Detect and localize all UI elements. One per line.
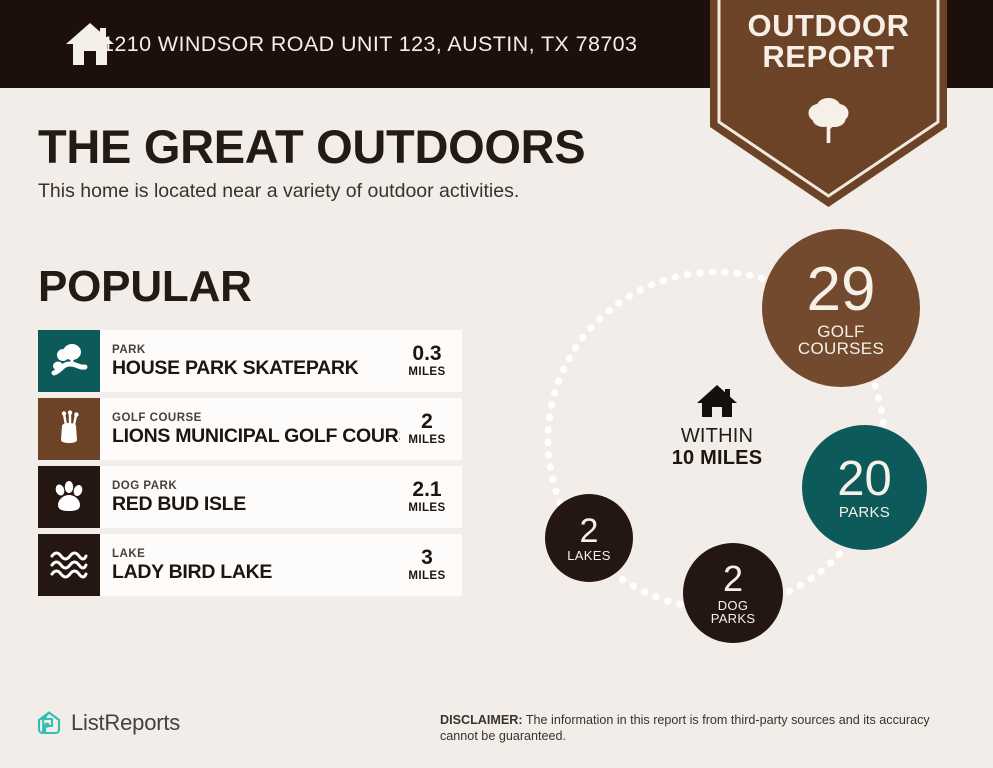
list-item-distance: 2.1 MILES <box>400 466 462 528</box>
list-item-text: DOG PARK RED BUD ISLE <box>100 466 400 528</box>
page-title: THE GREAT OUTDOORS <box>38 121 585 173</box>
badge-title: OUTDOOR REPORT <box>710 10 947 72</box>
stat-label: DOG PARKS <box>711 599 756 626</box>
distance-unit: MILES <box>408 365 445 379</box>
listreports-house-icon <box>36 710 62 736</box>
list-item[interactable]: LAKE LADY BIRD LAKE 3 MILES <box>38 534 462 596</box>
stat-bubble-lakes[interactable]: 2 LAKES <box>545 494 633 582</box>
list-item-distance: 0.3 MILES <box>400 330 462 392</box>
list-item[interactable]: DOG PARK RED BUD ISLE 2.1 MILES <box>38 466 462 528</box>
distance-unit: MILES <box>408 501 445 515</box>
distance-value: 2.1 <box>412 479 441 501</box>
park-trees-icon <box>38 330 100 392</box>
list-item-category: PARK <box>112 343 400 357</box>
list-item-text: LAKE LADY BIRD LAKE <box>100 534 400 596</box>
popular-heading: POPULAR <box>38 262 252 312</box>
disclaimer-label: DISCLAIMER: <box>440 713 523 727</box>
list-item-distance: 3 MILES <box>400 534 462 596</box>
stat-bubble-golf-courses[interactable]: 29 GOLF COURSES <box>762 229 920 387</box>
distance-value: 0.3 <box>412 343 441 365</box>
water-waves-icon <box>38 534 100 596</box>
page-subtitle: This home is located near a variety of o… <box>38 180 519 203</box>
stat-bubble-parks[interactable]: 20 PARKS <box>802 425 927 550</box>
list-item-text: PARK HOUSE PARK SKATEPARK <box>100 330 400 392</box>
list-item-category: GOLF COURSE <box>112 411 400 425</box>
outdoor-report-page: 1210 WINDSOR ROAD UNIT 123, AUSTIN, TX 7… <box>0 0 993 768</box>
stat-count: 2 <box>723 561 743 597</box>
disclaimer: DISCLAIMER: The information in this repo… <box>440 712 970 744</box>
list-item-text: GOLF COURSE LIONS MUNICIPAL GOLF COURSE <box>100 398 400 460</box>
paw-print-icon <box>38 466 100 528</box>
stat-label-line2: COURSES <box>798 339 884 358</box>
distance-unit: MILES <box>408 433 445 447</box>
list-item-category: LAKE <box>112 547 400 561</box>
house-icon <box>32 18 84 70</box>
within-10-miles-diagram: 29 GOLF COURSES 20 PARKS 2 LAKES 2 DOG P… <box>500 215 993 675</box>
distance-unit: MILES <box>408 569 445 583</box>
list-item-name: LADY BIRD LAKE <box>112 561 400 583</box>
list-item-distance: 2 MILES <box>400 398 462 460</box>
badge-title-line1: OUTDOOR <box>748 8 910 43</box>
center-line2: 10 MILES <box>652 447 782 470</box>
list-item-category: DOG PARK <box>112 479 400 493</box>
listreports-logo[interactable]: ListReports <box>36 710 180 736</box>
stat-count: 29 <box>807 259 876 321</box>
center-line1: WITHIN <box>652 425 782 447</box>
stat-count: 20 <box>837 455 892 504</box>
list-item-name: LIONS MUNICIPAL GOLF COURSE <box>112 425 400 447</box>
list-item[interactable]: GOLF COURSE LIONS MUNICIPAL GOLF COURSE … <box>38 398 462 460</box>
list-item[interactable]: PARK HOUSE PARK SKATEPARK 0.3 MILES <box>38 330 462 392</box>
stat-label: GOLF COURSES <box>798 323 884 358</box>
popular-list: PARK HOUSE PARK SKATEPARK 0.3 MILES <box>38 330 462 602</box>
diagram-center-node: WITHIN 10 MILES <box>652 383 782 470</box>
stat-label: LAKES <box>567 549 610 562</box>
golf-bag-icon <box>38 398 100 460</box>
listreports-logo-text: ListReports <box>71 710 180 736</box>
stat-count: 2 <box>580 514 599 548</box>
list-item-name: RED BUD ISLE <box>112 493 400 515</box>
distance-value: 2 <box>421 411 433 433</box>
outdoor-report-badge: OUTDOOR REPORT <box>710 0 947 207</box>
stat-bubble-dog-parks[interactable]: 2 DOG PARKS <box>683 543 783 643</box>
list-item-name: HOUSE PARK SKATEPARK <box>112 357 400 379</box>
distance-value: 3 <box>421 547 433 569</box>
stat-label-line1: GOLF <box>817 322 865 341</box>
stat-label: PARKS <box>839 505 890 520</box>
badge-title-line2: REPORT <box>710 41 947 72</box>
stat-label-line2: PARKS <box>711 611 756 626</box>
property-address: 1210 WINDSOR ROAD UNIT 123, AUSTIN, TX 7… <box>102 32 637 57</box>
house-icon <box>696 383 738 419</box>
